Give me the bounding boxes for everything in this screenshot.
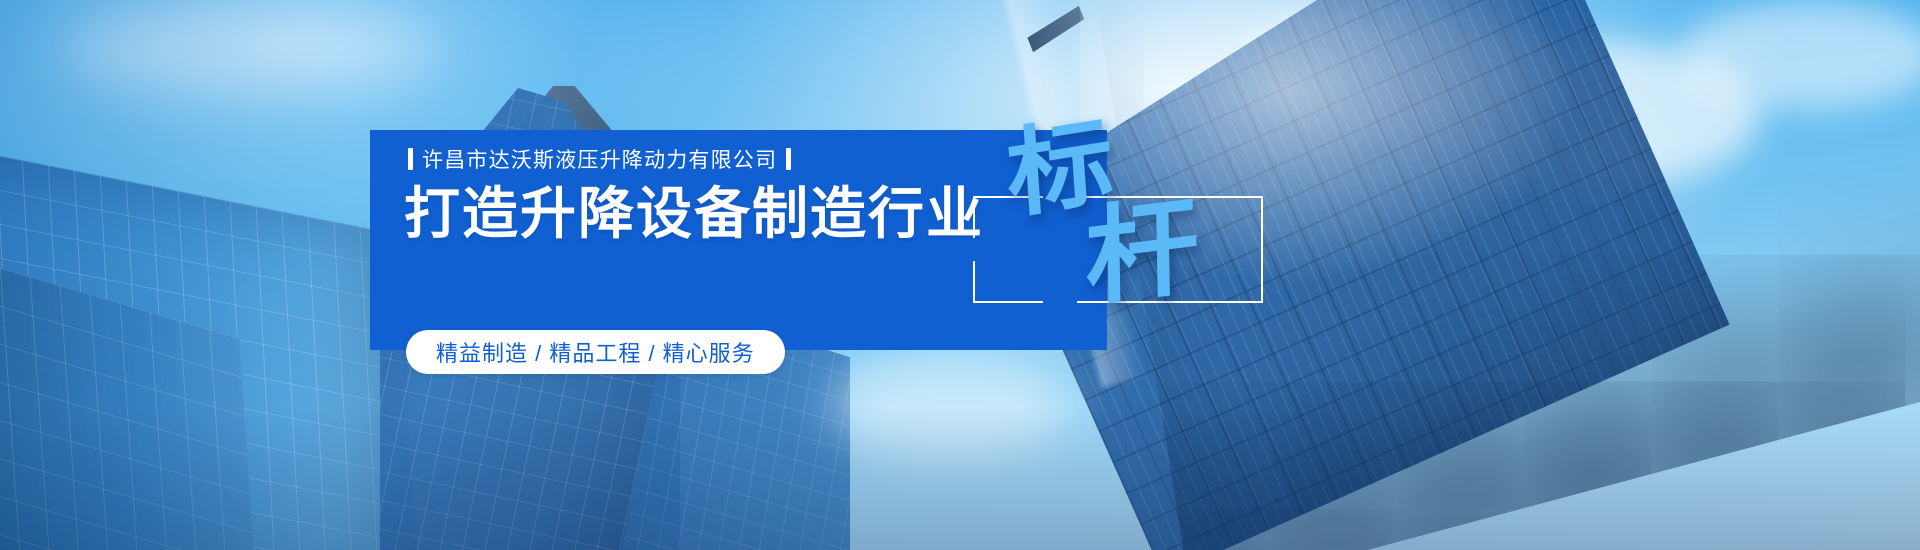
- hero-banner: 许昌市达沃斯液压升降动力有限公司 打造升降设备制造行业 标 杆 精益制造 / 精…: [0, 0, 1920, 550]
- slogan-text: 精益制造 / 精品工程 / 精心服务: [436, 336, 755, 368]
- company-name-row: 许昌市达沃斯液压升降动力有限公司: [408, 144, 791, 174]
- cloud-shape: [830, 350, 1070, 460]
- page-title: 打造升降设备制造行业: [404, 185, 984, 244]
- cloud-shape: [60, 4, 440, 94]
- vertical-bar-icon: [408, 148, 413, 170]
- vertical-bar-icon: [786, 148, 791, 170]
- slogan-pill: 精益制造 / 精品工程 / 精心服务: [406, 330, 785, 374]
- company-name: 许昌市达沃斯液压升降动力有限公司: [422, 144, 777, 174]
